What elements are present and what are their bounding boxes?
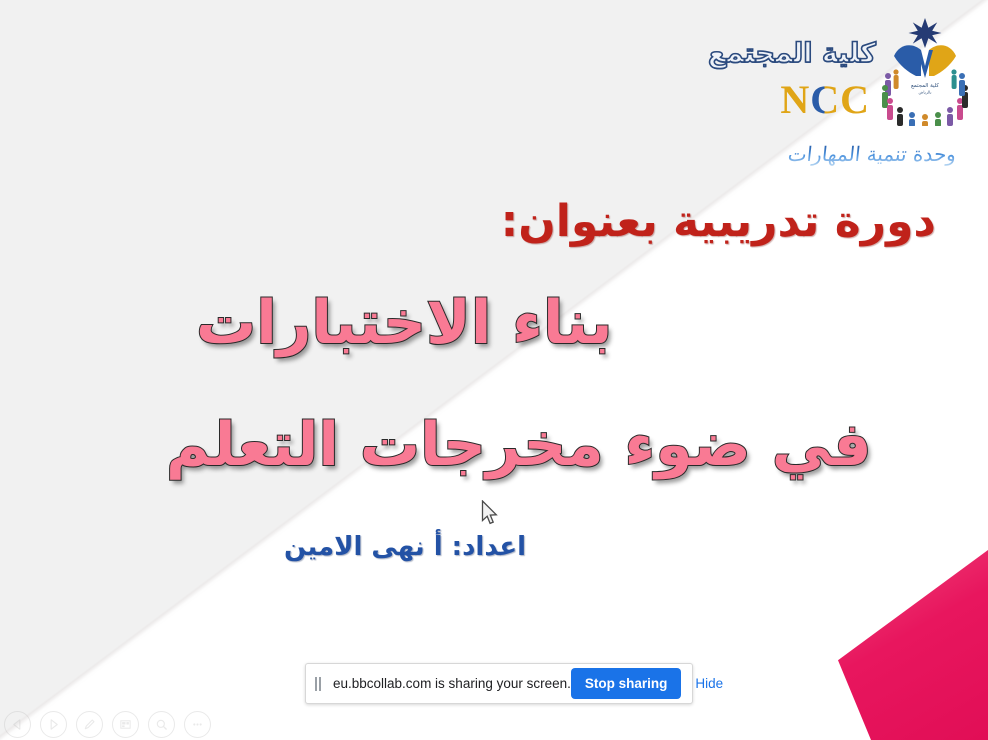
pen-icon bbox=[83, 718, 96, 731]
screen-sharing-notification-bar[interactable]: eu.bbcollab.com is sharing your screen. … bbox=[305, 663, 693, 704]
pen-tool-button[interactable] bbox=[76, 711, 103, 738]
more-options-button[interactable] bbox=[184, 711, 211, 738]
grid-icon bbox=[119, 718, 132, 731]
stop-sharing-button[interactable]: Stop sharing bbox=[571, 668, 682, 699]
ellipsis-icon bbox=[191, 718, 204, 731]
acronym-letter-c1: C bbox=[810, 77, 840, 122]
presentation-slide: كلية المجتمع بالرياض bbox=[0, 0, 988, 740]
drag-handle-icon[interactable] bbox=[315, 677, 325, 691]
ncc-emblem-icon: كلية المجتمع بالرياض bbox=[876, 16, 974, 126]
hide-button[interactable]: Hide bbox=[687, 670, 731, 697]
college-logo-block: كلية المجتمع بالرياض bbox=[734, 14, 974, 174]
course-title-line-1: بناء الاختبارات bbox=[196, 288, 613, 358]
acronym-letter-n: N bbox=[780, 77, 810, 122]
triangle-right-icon bbox=[47, 718, 60, 731]
college-acronym: NCC bbox=[780, 76, 870, 123]
svg-text:بالرياض: بالرياض bbox=[919, 90, 932, 95]
next-slide-button[interactable] bbox=[40, 711, 67, 738]
course-author-line: اعداد: أ نهى الامين bbox=[284, 532, 526, 562]
sharing-status-text: eu.bbcollab.com is sharing your screen. bbox=[333, 676, 571, 691]
triangle-left-icon bbox=[11, 718, 24, 731]
skills-development-unit-tagline: وحدة تنمية المهارات bbox=[787, 142, 958, 166]
college-name-arabic: كلية المجتمع bbox=[708, 38, 876, 69]
presenter-toolbar[interactable] bbox=[4, 711, 211, 738]
magnifier-icon bbox=[155, 718, 168, 731]
course-title-line-2: في ضوء مخرجات التعلم bbox=[166, 410, 872, 480]
previous-slide-button[interactable] bbox=[4, 711, 31, 738]
acronym-letter-c2: C bbox=[840, 77, 870, 122]
slide-grid-button[interactable] bbox=[112, 711, 139, 738]
zoom-tool-button[interactable] bbox=[148, 711, 175, 738]
svg-text:كلية المجتمع: كلية المجتمع bbox=[911, 82, 939, 89]
course-intro-line: دورة تدريبية بعنوان: bbox=[501, 196, 936, 247]
